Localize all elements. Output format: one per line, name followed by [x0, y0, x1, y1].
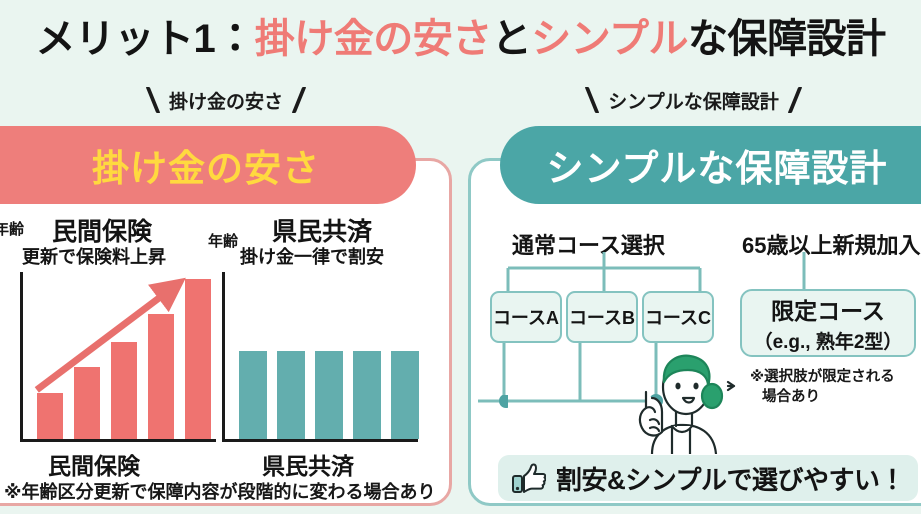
- conclusion-banner: 割安&シンプルで選びやすい！: [498, 455, 918, 501]
- chart2-bar-3: [315, 351, 343, 439]
- course-box-b-label: コースB: [569, 304, 635, 330]
- chart2-bar-4: [353, 351, 381, 439]
- slash-right-icon: [292, 87, 307, 113]
- page-title: メリット1：掛け金の安さとシンプルな保障設計: [0, 4, 921, 66]
- chart1-bar-4: [148, 314, 174, 439]
- course-box-c[interactable]: コースC: [642, 291, 714, 343]
- title-part-4: シンプル: [531, 6, 688, 64]
- limited-course-example: （e.g., 熟年2型）: [754, 327, 903, 354]
- left-pill-badge: 掛け金の安さ: [0, 126, 416, 204]
- chart2-bar-1: [239, 351, 267, 439]
- chart1-footer-label: 民間保険: [48, 447, 140, 481]
- right-pill-label: シンプルな保障設計: [547, 138, 888, 192]
- chart2-plot-area: [222, 272, 418, 442]
- limited-course-box[interactable]: 限定コース （e.g., 熟年2型）: [740, 289, 916, 357]
- thumbs-up-icon: [512, 462, 546, 494]
- chart1-y-axis-label: 年齢: [0, 218, 24, 239]
- chart2-y-axis-label: 年齢: [208, 230, 238, 251]
- senior-entry-group-label: 65歳以上新規加入: [742, 228, 920, 260]
- right-note-line-2: 場合あり: [750, 388, 921, 408]
- infographic-canvas: メリット1：掛け金の安さとシンプルな保障設計 掛け金の安さ シンプルな保障設計 …: [0, 0, 921, 514]
- left-subheading-label: 掛け金の安さ: [169, 87, 283, 114]
- title-part-3: と: [492, 6, 532, 64]
- title-part-5: な保障設計: [688, 6, 886, 64]
- chart2-bar-2: [277, 351, 305, 439]
- right-pill-badge: シンプルな保障設計: [500, 126, 921, 204]
- normal-course-group-label: 通常コース選択: [512, 228, 665, 260]
- chart1-bar-5: [185, 279, 211, 439]
- title-part-2: 掛け金の安さ: [255, 6, 492, 64]
- limited-course-title: 限定コース: [771, 292, 885, 326]
- chart2-subtitle: 掛け金一律で割安: [240, 243, 384, 269]
- chart2-bar-5: [391, 351, 419, 439]
- left-subheading: 掛け金の安さ: [0, 86, 452, 114]
- course-box-a-label: コースA: [493, 304, 559, 330]
- right-subheading-label: シンプルな保障設計: [608, 87, 778, 114]
- chart2-footer-label: 県民共済: [262, 447, 354, 481]
- chart1-bar-3: [111, 342, 137, 439]
- chart1-subtitle: 更新で保険料上昇: [22, 243, 166, 269]
- right-note-line-1: ※選択肢が限定される: [750, 369, 895, 385]
- course-box-c-label: コースC: [645, 304, 711, 330]
- chart1-bar-2: [74, 367, 100, 439]
- right-subheading: シンプルな保障設計: [466, 86, 921, 114]
- chart1-plot-area: [20, 272, 216, 442]
- left-pill-label: 掛け金の安さ: [92, 138, 320, 192]
- pointing-woman-illustration: [628, 342, 736, 454]
- course-box-b[interactable]: コースB: [566, 291, 638, 343]
- chart1-bar-1: [37, 393, 63, 439]
- right-panel-note: ※選択肢が限定される 場合あり: [750, 368, 921, 407]
- course-box-a[interactable]: コースA: [490, 291, 562, 343]
- conclusion-banner-text: 割安&シンプルで選びやすい！: [556, 460, 905, 497]
- slash-right-icon: [787, 87, 802, 113]
- slash-left-icon: [585, 87, 600, 113]
- left-panel-footnote: ※年齢区分更新で保障内容が段階的に変わる場合あり: [4, 478, 444, 504]
- slash-left-icon: [146, 87, 161, 113]
- title-part-1: メリット1：: [35, 6, 254, 64]
